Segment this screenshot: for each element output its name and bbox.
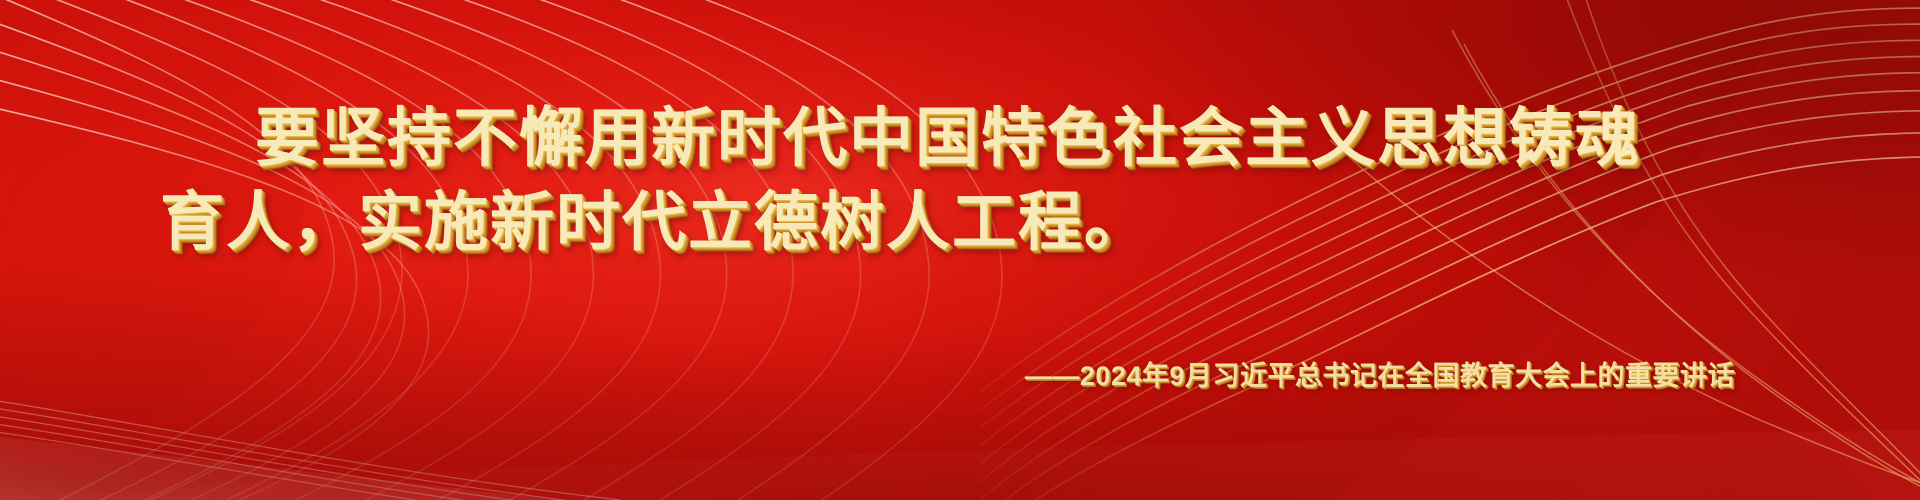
headline-block: 要坚持不懈用新时代中国特色社会主义思想铸魂 育人，实施新时代立德树人工程。	[0, 96, 1920, 264]
red-propaganda-banner: 要坚持不懈用新时代中国特色社会主义思想铸魂 育人，实施新时代立德树人工程。 ——…	[0, 0, 1920, 500]
banner-content: 要坚持不懈用新时代中国特色社会主义思想铸魂 育人，实施新时代立德树人工程。 ——…	[0, 0, 1920, 500]
attribution-source: ——2024年9月习近平总书记在全国教育大会上的重要讲话	[0, 356, 1920, 396]
headline-line-2: 育人，实施新时代立德树人工程。	[150, 180, 1770, 264]
headline-line-1: 要坚持不懈用新时代中国特色社会主义思想铸魂	[150, 96, 1770, 180]
